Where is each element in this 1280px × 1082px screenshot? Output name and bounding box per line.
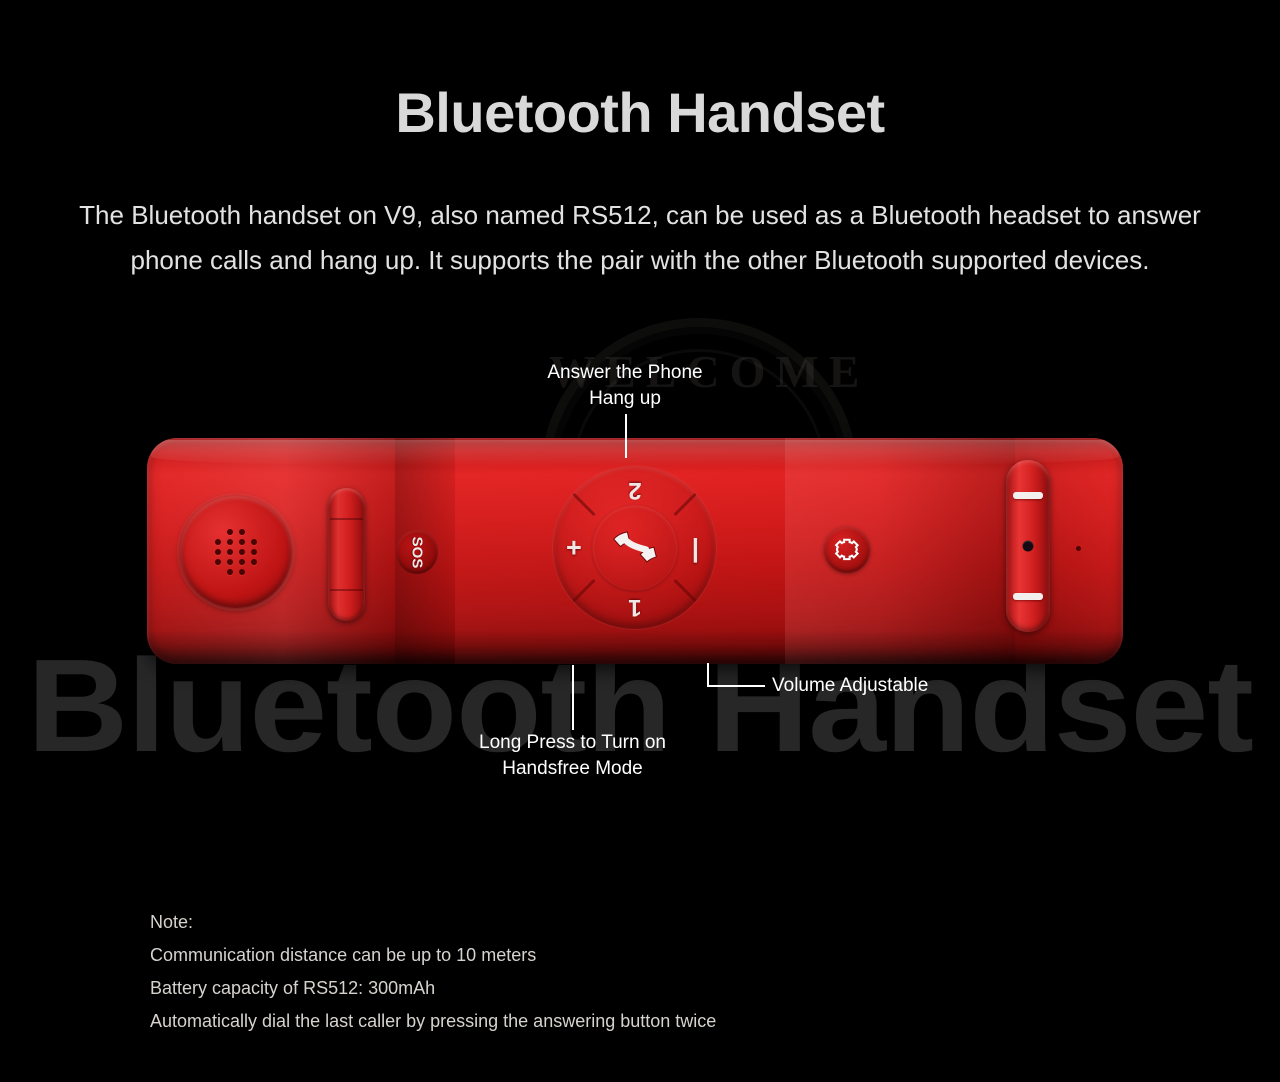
sos-button-label: SOS	[409, 536, 426, 568]
phone-handset-icon	[609, 522, 661, 574]
callout-answer-hangup-line1: Answer the Phone	[505, 360, 745, 386]
intro-paragraph: The Bluetooth handset on V9, also named …	[45, 193, 1235, 283]
side-key-capsule[interactable]	[328, 488, 365, 621]
dpad-tick-bottom-right	[673, 579, 696, 602]
notes-item: Battery capacity of RS512: 300mAh	[150, 972, 716, 1005]
speaker-icon	[180, 496, 292, 608]
leader-line-volume-horizontal	[707, 685, 765, 687]
device-top-gloss	[151, 440, 1119, 466]
notes-item: Communication distance can be up to 10 m…	[150, 939, 716, 972]
page-title: Bluetooth Handset	[0, 78, 1280, 148]
dpad-label-left: +	[566, 534, 582, 561]
callout-handsfree: Long Press to Turn on Handsfree Mode	[445, 730, 700, 782]
leader-line-handsfree	[572, 665, 574, 730]
callout-answer-hangup-line2: Hang up	[505, 386, 745, 412]
dpad-label-bottom: 1	[628, 595, 641, 619]
dpad-control[interactable]: 2 1 + |	[553, 466, 716, 629]
bluetooth-handset-device: SOS 2 1 + |	[147, 438, 1123, 664]
sos-button[interactable]: SOS	[396, 530, 438, 574]
callout-volume: Volume Adjustable	[772, 673, 928, 699]
device-bottom-shadow	[147, 630, 1123, 664]
microphone-hole-icon	[1023, 541, 1034, 552]
leader-line-volume-vertical	[707, 663, 709, 687]
callout-handsfree-line2: Handsfree Mode	[445, 756, 700, 782]
infographic-page: WELCOME BRAND Bluetooth Handset Bluetoot…	[0, 0, 1280, 1082]
indicator-dot-icon	[1076, 546, 1081, 551]
volume-rocker-capsule[interactable]	[1006, 460, 1050, 632]
callout-handsfree-line1: Long Press to Turn on	[445, 730, 700, 756]
dpad-tick-bottom-left	[572, 579, 595, 602]
device-body: SOS 2 1 + |	[147, 438, 1123, 664]
callout-volume-line1: Volume Adjustable	[772, 673, 928, 699]
device-sheen-d	[785, 438, 1015, 664]
clover-button[interactable]	[824, 527, 870, 573]
callout-answer-hangup: Answer the Phone Hang up	[505, 360, 745, 412]
dpad-tick-top-right	[673, 493, 696, 516]
notes-item: Automatically dial the last caller by pr…	[150, 1005, 716, 1038]
dpad-label-top: 2	[628, 478, 641, 502]
volume-down-bar[interactable]	[1013, 593, 1043, 600]
dpad-tick-top-left	[572, 493, 595, 516]
speaker-grille-dots	[213, 528, 259, 576]
volume-up-bar[interactable]	[1013, 492, 1043, 499]
notes-heading: Note:	[150, 906, 716, 939]
dpad-label-right: |	[692, 535, 699, 561]
leader-line-answer-hangup	[625, 414, 627, 458]
clover-icon	[834, 537, 860, 563]
notes-block: Note: Communication distance can be up t…	[150, 906, 716, 1038]
